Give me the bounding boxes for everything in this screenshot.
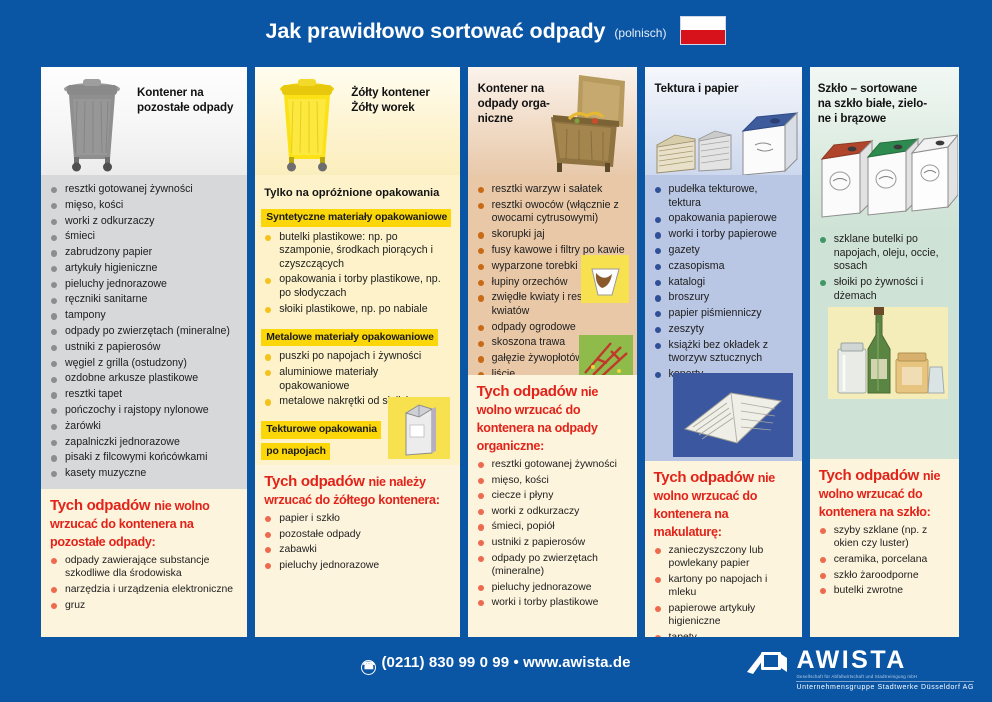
forbidden-items-list: zanieczyszczony lub powlekany papier kar… — [654, 544, 793, 637]
group-heading-metal: Metalowe materiały opakowaniowe — [261, 329, 437, 347]
accepted-items-list: pudełka tekturowe, tektura opakowania pa… — [645, 175, 802, 388]
list-item: śmieci — [50, 230, 238, 244]
column-header-yellow-container: Żółty kontener Żółty worek — [255, 67, 459, 175]
phone-icon: ☎ — [361, 660, 376, 675]
list-item: zabawki — [264, 543, 450, 556]
list-item: czasopisma — [654, 260, 793, 274]
list-item: pozostałe odpady — [264, 528, 450, 541]
list-item: ustniki z papierosów — [477, 536, 628, 549]
list-item: odpady po zwierzętach (mineralne) — [477, 552, 628, 579]
list-item: zanieczyszczony lub powlekany papier — [654, 544, 793, 571]
column-residual-waste: Kontener na pozostałe odpady resztki got… — [41, 67, 247, 637]
list-item: odpady zawierające substancje szkodliwe … — [50, 554, 238, 581]
list-item: puszki po napojach i żywności — [264, 350, 450, 364]
flag-stripe-red — [681, 30, 725, 44]
list-item: ręczniki sanitarne — [50, 293, 238, 307]
logo-wordmark: AWISTA — [796, 648, 974, 673]
list-item: żarówki — [50, 420, 238, 434]
list-item: katalogi — [654, 276, 793, 290]
list-item: ozdobne arkusze plastikowe — [50, 372, 238, 386]
list-item: śmieci, popiół — [477, 520, 628, 533]
column-heading-yellow-container: Żółty kontener Żółty worek — [351, 85, 429, 115]
forbidden-items-list: papier i szkło pozostałe odpady zabawki … — [264, 512, 450, 572]
list-item: szkło żaroodporne — [819, 569, 950, 582]
list-item: ciecze i płyny — [477, 489, 628, 502]
column-body-glass: szklane butelki po napojach, oleju, occi… — [810, 227, 959, 637]
list-item: książki bez okładek z tworzyw sztucznych — [654, 339, 793, 366]
logo-subtitle-group: Unternehmensgruppe Stadtwerke Düsseldorf… — [796, 681, 974, 691]
warning-box-residual-waste: Tych odpadów nie wolno wrzucać do konten… — [41, 489, 247, 637]
list-item: kartony po napojach i mleku — [654, 573, 793, 600]
list-item: szyby szklane (np. z okien czy luster) — [819, 524, 950, 551]
list-item: gruz — [50, 599, 238, 612]
column-heading-residual-waste: Kontener na pozostałe odpady — [137, 85, 233, 115]
poster-footer: ☎(0211) 830 99 0 99 • www.awista.de AWIS… — [0, 640, 992, 702]
list-item: gazety — [654, 244, 793, 258]
list-item: ustniki z papierosów — [50, 341, 238, 355]
list-item: worki i torby plastikowe — [477, 596, 628, 609]
warning-title: Tych odpadów nie wolno wrzucać do konten… — [50, 497, 238, 551]
column-heading-glass: Szkło – sortowane na szkło białe, zielo-… — [818, 81, 927, 126]
list-item: narzędzia i urządzenia elektroniczne — [50, 583, 238, 596]
glass-bottles-jars-icon — [824, 305, 952, 401]
list-item: opakowania i torby plastikowe, np. po sł… — [264, 273, 450, 300]
poster-header: Jak prawidłowo sortować odpady (polnisch… — [0, 0, 992, 62]
column-header-paper-cardboard: Tektura i papier — [645, 67, 802, 175]
list-item: węgiel z grilla (ostudzony) — [50, 357, 238, 371]
page-title: Jak prawidłowo sortować odpady — [266, 19, 606, 44]
awista-logo-icon — [745, 648, 789, 678]
forbidden-items-list: szyby szklane (np. z okien czy luster) c… — [819, 524, 950, 598]
group-heading-carton-line2: po napojach — [261, 443, 330, 461]
forbidden-items-list: odpady zawierające substancje szkodliwe … — [50, 554, 238, 612]
list-item: resztki gotowanej żywności — [477, 458, 628, 471]
list-item: pudełka tekturowe, tektura — [654, 183, 793, 210]
group-heading-synthetic: Syntetyczne materiały opakowaniowe — [261, 209, 451, 227]
list-item: zeszyty — [654, 323, 793, 337]
grey-wheelie-bin-icon — [53, 75, 131, 173]
list-item: worki i torby papierowe — [654, 228, 793, 242]
category-columns: Kontener na pozostałe odpady resztki got… — [41, 67, 959, 637]
list-item: zabrudzony papier — [50, 246, 238, 260]
column-header-residual-waste: Kontener na pozostałe odpady — [41, 67, 247, 175]
column-header-glass: Szkło – sortowane na szkło białe, zielo-… — [810, 67, 959, 227]
column-body-paper-cardboard: pudełka tekturowe, tektura opakowania pa… — [645, 175, 802, 637]
list-item: mięso, kości — [50, 199, 238, 213]
flag-stripe-white — [681, 17, 725, 31]
language-note: (polnisch) — [614, 26, 666, 40]
list-item: pisaki z filcowymi końcówkami — [50, 451, 238, 465]
list-item: słoiki plastikowe, np. po nabiale — [264, 303, 450, 317]
list-item: pończochy i rajstopy nylonowe — [50, 404, 238, 418]
yellow-wheelie-bin-icon — [269, 75, 345, 173]
warning-box-paper-cardboard: Tych odpadów nie wolno wrzucać do konten… — [645, 461, 802, 637]
polish-flag — [680, 16, 726, 45]
list-item: mięso, kości — [477, 474, 628, 487]
column-heading-organic-waste: Kontener na odpady orga- niczne — [478, 81, 550, 126]
milk-carton-icon — [386, 395, 452, 461]
list-item: butelki zwrotne — [819, 584, 950, 597]
contact-text: (0211) 830 99 0 99 • www.awista.de — [381, 654, 630, 671]
warning-box-yellow-container: Tych odpadów nie należy wrzucać do żółte… — [255, 465, 459, 637]
column-body-residual-waste: resztki gotowanej żywności mięso, kości … — [41, 175, 247, 637]
intro-text: Tylko na opróżnione opakowania — [255, 175, 459, 203]
warning-box-glass: Tych odpadów nie wolno wrzucać do konten… — [810, 459, 959, 637]
logo-subtitle-company: Gesellschaft für Abfallwirtschaft und St… — [796, 674, 974, 679]
brown-organic-bin-icon — [539, 71, 635, 175]
column-glass: Szkło – sortowane na szkło białe, zielo-… — [810, 67, 959, 637]
list-item: papier i szkło — [264, 512, 450, 525]
warning-title: Tych odpadów nie należy wrzucać do żółte… — [264, 473, 450, 509]
group-items-synthetic: butelki plastikowe: np. po szamponie, śr… — [255, 229, 459, 323]
column-body-organic-waste: resztki warzyw i sałatek resztki owoców … — [468, 175, 637, 637]
warning-title: Tych odpadów nie wolno wrzucać do konten… — [819, 467, 950, 521]
coffee-filter-icon — [579, 253, 631, 305]
warning-title: Tych odpadów nie wolno wrzucać do konten… — [654, 469, 793, 541]
group-metal: Metalowe materiały opakowaniowe — [255, 323, 459, 349]
accepted-items-list: resztki gotowanej żywności mięso, kości … — [41, 175, 247, 487]
column-header-organic-waste: Kontener na odpady orga- niczne — [468, 67, 637, 175]
list-item: resztki gotowanej żywności — [50, 183, 238, 197]
list-item: odpady po zwierzętach (mineralne) — [50, 325, 238, 339]
list-item: broszury — [654, 291, 793, 305]
warning-box-organic-waste: Tych odpadów nie wolno wrzucać do konten… — [468, 375, 637, 637]
list-item: szklane butelki po napojach, oleju, occi… — [819, 233, 950, 274]
list-item: resztki warzyw i sałatek — [477, 183, 628, 197]
column-heading-paper-cardboard: Tektura i papier — [655, 81, 739, 96]
list-item: worki z odkurzaczy — [50, 215, 238, 229]
list-item: tapety — [654, 631, 793, 637]
list-item: tampony — [50, 309, 238, 323]
column-paper-cardboard: Tektura i papier — [645, 67, 802, 637]
list-item: papierowe artykuły higieniczne — [654, 602, 793, 629]
list-item: resztki tapet — [50, 388, 238, 402]
list-item: opakowania papierowe — [654, 212, 793, 226]
accepted-items-list: szklane butelki po napojach, oleju, occi… — [810, 227, 959, 309]
glass-banks-icon — [816, 129, 958, 221]
column-organic-waste: Kontener na odpady orga- niczne resztki … — [468, 67, 637, 637]
list-item: resztki owoców (włącznie z owocami cytru… — [477, 199, 628, 226]
list-item: aluminiowe materiały opakowaniowe — [264, 366, 450, 393]
group-synthetic: Syntetyczne materiały opakowaniowe — [255, 203, 459, 229]
list-item: skorupki jaj — [477, 228, 628, 242]
group-heading-carton-line1: Tekturowe opakowania — [261, 421, 381, 439]
awista-logo[interactable]: AWISTA Gesellschaft für Abfallwirtschaft… — [745, 648, 974, 691]
list-item: artykuły higieniczne — [50, 262, 238, 276]
list-item: pieluchy jednorazowe — [50, 278, 238, 292]
list-item: butelki plastikowe: np. po szamponie, śr… — [264, 231, 450, 272]
list-item: pieluchy jednorazowe — [264, 559, 450, 572]
list-item: kasety muzyczne — [50, 467, 238, 481]
open-newspaper-icon — [671, 371, 795, 459]
list-item: słoiki po żywności i dżemach — [819, 276, 950, 303]
list-item: pieluchy jednorazowe — [477, 581, 628, 594]
paper-bin-icon — [651, 109, 799, 175]
forbidden-items-list: resztki gotowanej żywności mięso, kości … — [477, 458, 628, 610]
list-item: papier piśmienniczy — [654, 307, 793, 321]
column-yellow-container: Żółty kontener Żółty worek Tylko na opró… — [255, 67, 459, 637]
list-item: worki z odkurzaczy — [477, 505, 628, 518]
column-body-yellow-container: Tylko na opróżnione opakowania Syntetycz… — [255, 175, 459, 637]
list-item: zapalniczki jednorazowe — [50, 436, 238, 450]
list-item: ceramika, porcelana — [819, 553, 950, 566]
warning-title: Tych odpadów nie wolno wrzucać do konten… — [477, 383, 628, 455]
poster-root: Jak prawidłowo sortować odpady (polnisch… — [0, 0, 992, 702]
